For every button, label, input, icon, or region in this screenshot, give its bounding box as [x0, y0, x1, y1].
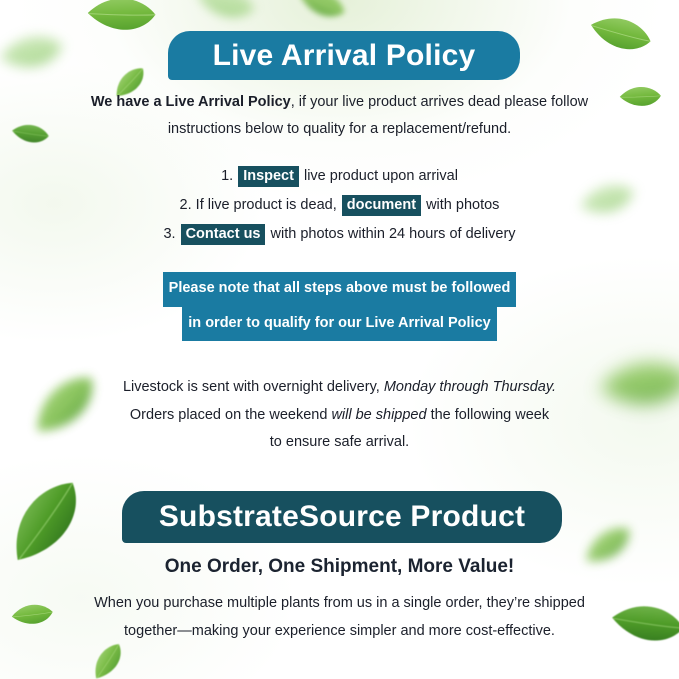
live-arrival-intro-rest: , if your live product arrives dead plea…	[291, 94, 588, 110]
list-item: 2. If live product is dead, document wit…	[60, 191, 619, 220]
live-arrival-intro-paragraph: We have a Live Arrival Policy, if your l…	[60, 89, 619, 143]
shipping-line-1-emphasis: Monday through Thursday.	[384, 379, 556, 395]
substratesource-body-line-1: When you purchase multiple plants from u…	[60, 590, 619, 618]
substratesource-product-banner-title: SubstrateSource Product	[159, 500, 525, 534]
policy-note-line-1: Please note that all steps above must be…	[163, 272, 517, 307]
live-arrival-intro-line-2: instructions below to quality for a repl…	[60, 116, 619, 143]
step-keyword-document: document	[342, 195, 421, 216]
policy-note-callout: Please note that all steps above must be…	[60, 272, 619, 341]
substratesource-body-paragraph: When you purchase multiple plants from u…	[60, 590, 619, 645]
shipping-line-1: Livestock is sent with overnight deliver…	[60, 374, 619, 402]
substratesource-subheading: One Order, One Shipment, More Value!	[60, 556, 619, 578]
shipping-line-2: Orders placed on the weekend will be shi…	[60, 402, 619, 430]
shipping-line-3: to ensure safe arrival.	[60, 429, 619, 457]
live-arrival-policy-banner-title: Live Arrival Policy	[213, 39, 476, 73]
shipping-schedule-paragraph: Livestock is sent with overnight deliver…	[60, 374, 619, 457]
step-text-2-before: If live product is dead,	[196, 197, 337, 213]
live-arrival-intro-strong: We have a Live Arrival Policy	[91, 94, 291, 110]
step-text-1: live product upon arrival	[304, 168, 458, 184]
shipping-line-2-text-a: Orders placed on the weekend	[130, 407, 328, 423]
step-text-3: with photos within 24 hours of delivery	[271, 226, 516, 242]
substratesource-product-banner: SubstrateSource Product	[122, 491, 562, 543]
substratesource-body-line-2: together—making your experience simpler …	[60, 618, 619, 646]
step-number-1: 1.	[221, 168, 233, 184]
policy-note-line-1-wrap: Please note that all steps above must be…	[60, 272, 619, 307]
shipping-line-2-emphasis: will be shipped	[331, 407, 426, 423]
shipping-line-1-text: Livestock is sent with overnight deliver…	[123, 379, 380, 395]
step-text-2-after: with photos	[426, 197, 499, 213]
step-keyword-inspect: Inspect	[238, 166, 299, 187]
live-arrival-intro-line-1: We have a Live Arrival Policy, if your l…	[60, 89, 619, 116]
step-keyword-contact-us[interactable]: Contact us	[181, 224, 266, 245]
list-item: 3. Contact us with photos within 24 hour…	[60, 220, 619, 249]
policy-note-line-2: in order to qualify for our Live Arrival…	[182, 307, 496, 342]
step-number-2: 2.	[180, 197, 192, 213]
live-arrival-policy-banner: Live Arrival Policy	[168, 31, 520, 80]
shipping-line-2-text-b: the following week	[431, 407, 550, 423]
live-arrival-steps-list: 1. Inspect live product upon arrival 2. …	[60, 162, 619, 249]
step-number-3: 3.	[163, 226, 175, 242]
policy-note-line-2-wrap: in order to qualify for our Live Arrival…	[60, 307, 619, 342]
list-item: 1. Inspect live product upon arrival	[60, 162, 619, 191]
live-arrival-policy-infographic: Live Arrival Policy We have a Live Arriv…	[0, 0, 679, 679]
